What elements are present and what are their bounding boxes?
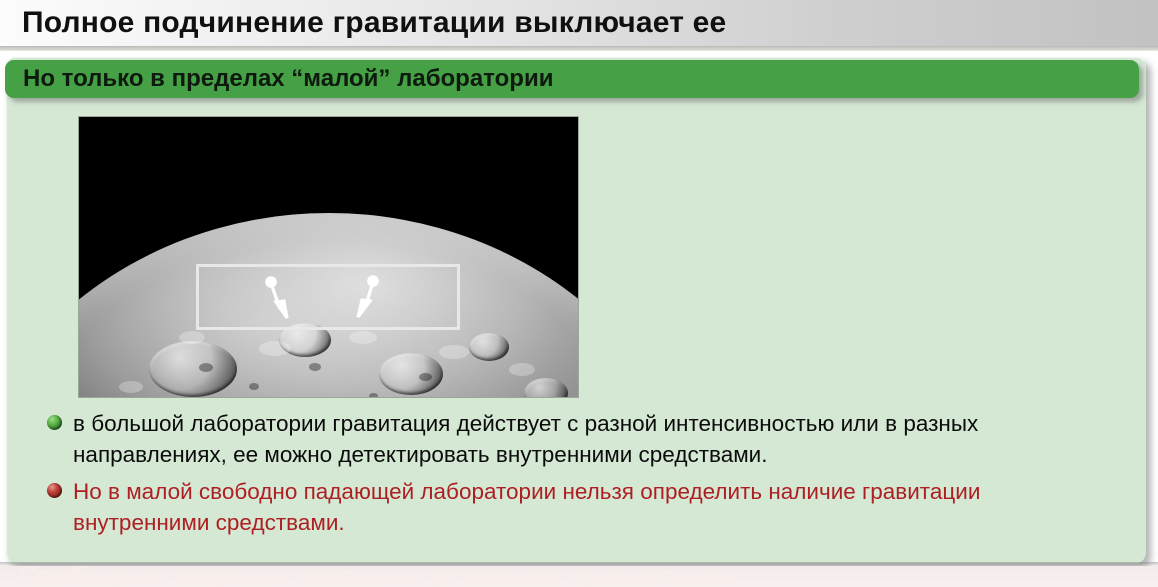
moon-figure bbox=[79, 117, 578, 397]
list-item: Но в малой свободно падающей лаборатории… bbox=[47, 476, 1117, 538]
bullet-text-2: Но в малой свободно падающей лаборатории… bbox=[73, 476, 1117, 538]
green-sphere-bullet-icon bbox=[47, 415, 62, 430]
subheading-bar: Но только в пределах “малой” лаборатории bbox=[5, 60, 1139, 98]
presentation-slide: Полное подчинение гравитации выключает е… bbox=[0, 0, 1158, 587]
page-title: Полное подчинение гравитации выключает е… bbox=[22, 6, 726, 40]
bullet-text-1: в большой лаборатории гравитация действу… bbox=[73, 408, 1117, 470]
next-slide-title: Свободное падение локально устраняет гра… bbox=[18, 566, 732, 587]
free-falling-lab-box bbox=[196, 264, 460, 330]
next-slide-peek: Свободное падение локально устраняет гра… bbox=[0, 566, 1158, 587]
title-divider bbox=[0, 46, 1158, 51]
subheading-text: Но только в пределах “малой” лаборатории bbox=[23, 65, 553, 93]
red-sphere-bullet-icon bbox=[47, 483, 62, 498]
list-item: в большой лаборатории гравитация действу… bbox=[47, 408, 1117, 470]
bullet-list: в большой лаборатории гравитация действу… bbox=[47, 408, 1117, 544]
slide-title-bar: Полное подчинение гравитации выключает е… bbox=[0, 0, 1158, 46]
